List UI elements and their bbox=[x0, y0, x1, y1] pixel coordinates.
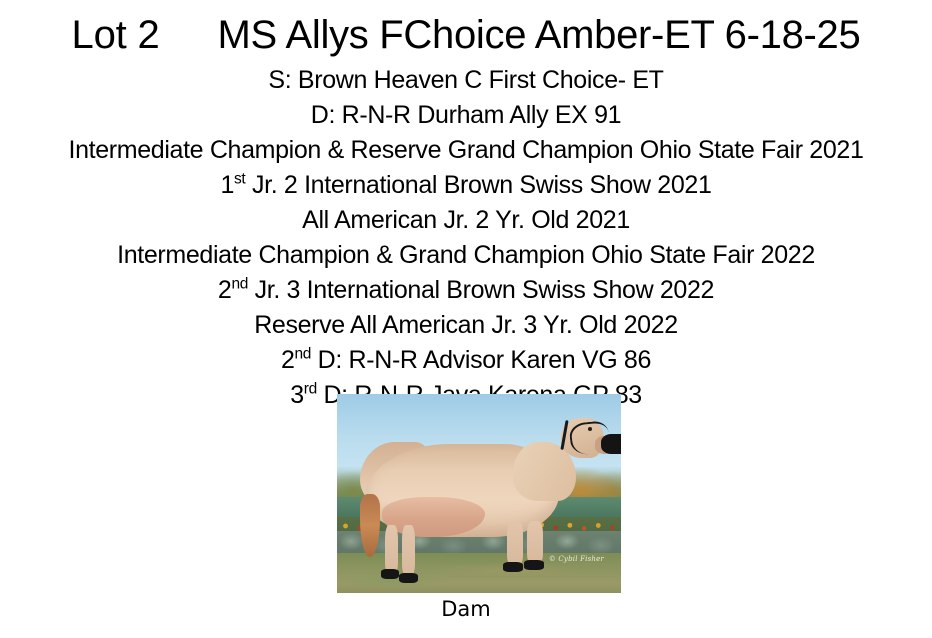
ordinal-suffix: st bbox=[234, 171, 245, 188]
achievement-2022-international-show: 2nd Jr. 3 International Brown Swiss Show… bbox=[0, 273, 932, 308]
lot-number-label: Lot 2 bbox=[72, 13, 160, 57]
sire-line: S: Brown Heaven C First Choice- ET bbox=[0, 63, 932, 98]
ordinal-suffix: nd bbox=[295, 346, 312, 363]
ordinal-number: 2 bbox=[281, 346, 295, 374]
cow-hoof bbox=[503, 562, 523, 572]
dam-photo: © Cybil Fisher bbox=[337, 394, 621, 593]
achievement-text: Jr. 2 International Brown Swiss Show 202… bbox=[245, 171, 711, 199]
cow-hoof bbox=[524, 560, 544, 570]
second-dam-line: 2nd D: R-N-R Advisor Karen VG 86 bbox=[0, 343, 932, 378]
ordinal-suffix: rd bbox=[304, 381, 317, 398]
cow-leg bbox=[507, 521, 523, 565]
cow-leg bbox=[402, 525, 415, 575]
handler-arm bbox=[601, 434, 621, 454]
cow-hoof bbox=[399, 573, 417, 583]
page-title: MS Allys FChoice Amber-ET 6-18-25 bbox=[218, 13, 861, 57]
second-dam-text: D: R-N-R Advisor Karen VG 86 bbox=[311, 346, 651, 374]
cow-leg bbox=[385, 525, 398, 573]
page-title-row: Lot 2 MS Allys FChoice Amber-ET 6-18-25 bbox=[0, 13, 932, 61]
photo-caption: Dam bbox=[0, 596, 932, 622]
ordinal-number: 2 bbox=[218, 276, 232, 304]
ordinal-number: 3 bbox=[290, 381, 304, 409]
achievement-text: Jr. 3 International Brown Swiss Show 202… bbox=[248, 276, 714, 304]
ordinal-number: 1 bbox=[220, 171, 234, 199]
achievement-2021-state-fair: Intermediate Champion & Reserve Grand Ch… bbox=[0, 133, 932, 168]
achievement-2022-state-fair: Intermediate Champion & Grand Champion O… bbox=[0, 238, 932, 273]
cow-leg bbox=[527, 521, 543, 563]
cow-hoof bbox=[381, 569, 399, 579]
ordinal-suffix: nd bbox=[231, 276, 248, 293]
achievement-2021-all-american: All American Jr. 2 Yr. Old 2021 bbox=[0, 203, 932, 238]
pedigree-achievement-list: S: Brown Heaven C First Choice- ET D: R-… bbox=[0, 63, 932, 413]
achievement-2021-international-show: 1st Jr. 2 International Brown Swiss Show… bbox=[0, 168, 932, 203]
cow-photograph: © Cybil Fisher bbox=[337, 394, 621, 593]
dam-line: D: R-N-R Durham Ally EX 91 bbox=[0, 98, 932, 133]
photographer-watermark: © Cybil Fisher bbox=[549, 555, 604, 563]
achievement-2022-all-american: Reserve All American Jr. 3 Yr. Old 2022 bbox=[0, 308, 932, 343]
